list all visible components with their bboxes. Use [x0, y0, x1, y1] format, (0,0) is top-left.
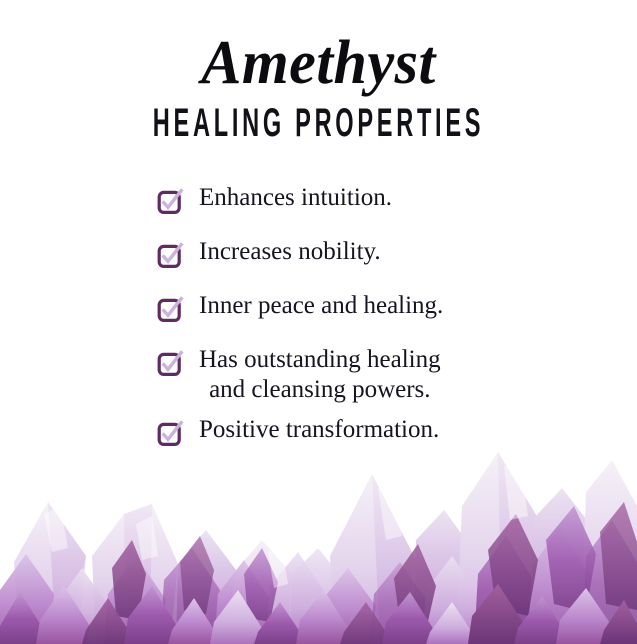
checkbox-checked-icon: [157, 189, 183, 215]
checkbox-checked-icon: [157, 243, 183, 269]
list-item: Positive transformation.: [0, 415, 637, 447]
list-item-label: Has outstanding healing and cleansing po…: [199, 345, 441, 405]
list-item: Increases nobility.: [0, 237, 637, 269]
page-title: Amethyst: [10, 30, 628, 96]
title-block: Amethyst HEALING PROPERTIES: [0, 30, 637, 142]
healing-properties-list: Enhances intuition. Increases nobility. …: [0, 183, 637, 469]
list-item-label: Inner peace and healing.: [199, 291, 443, 321]
page-subtitle: HEALING PROPERTIES: [121, 102, 516, 144]
checkbox-checked-icon: [157, 297, 183, 323]
list-item: Has outstanding healing and cleansing po…: [0, 345, 637, 405]
amethyst-healing-properties-poster: Amethyst HEALING PROPERTIES Enhances int…: [0, 0, 637, 644]
amethyst-crystal-cluster: [0, 444, 637, 644]
list-item: Enhances intuition.: [0, 183, 637, 215]
list-item-label: Enhances intuition.: [199, 183, 392, 213]
list-item-label: Positive transformation.: [199, 415, 439, 445]
list-item: Inner peace and healing.: [0, 291, 637, 323]
checkbox-checked-icon: [157, 351, 183, 377]
list-item-label: Increases nobility.: [199, 237, 381, 267]
